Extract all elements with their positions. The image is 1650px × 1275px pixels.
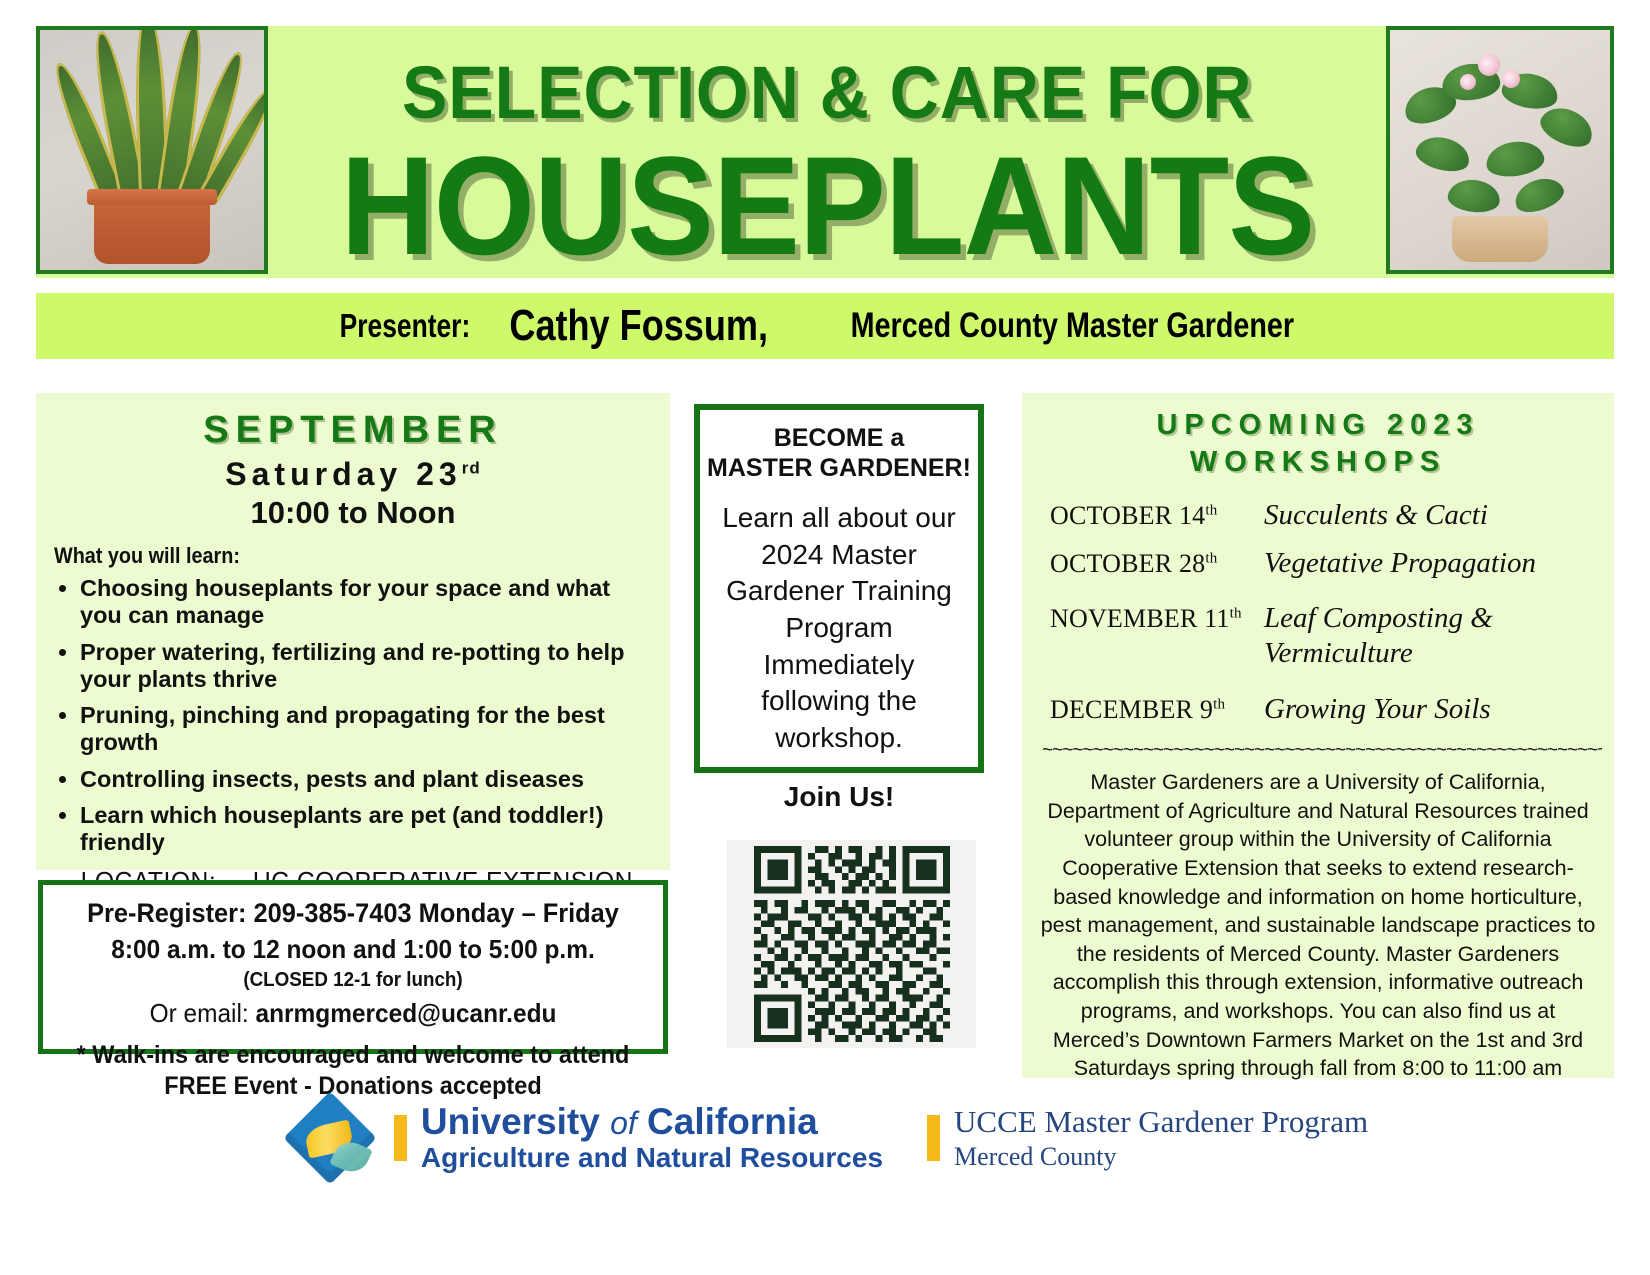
callout-cta: Join Us! bbox=[700, 781, 978, 813]
workshop-name: Leaf Composting & Vermiculture bbox=[1264, 601, 1606, 671]
flower-shape bbox=[1460, 74, 1476, 90]
flower-shape bbox=[1502, 70, 1520, 88]
workshops-list: OCTOBER 14th Succulents & Cacti OCTOBER … bbox=[1022, 498, 1614, 727]
presenter-bar: Presenter: Cathy Fossum, Merced County M… bbox=[36, 293, 1614, 359]
list-item: DECEMBER 9th Growing Your Soils bbox=[1050, 692, 1606, 727]
footer-logos: University of California Agriculture and… bbox=[0, 1088, 1650, 1188]
workshop-date-text: NOVEMBER 11 bbox=[1050, 604, 1230, 633]
title-line-1: SELECTION & CARE FOR bbox=[402, 56, 1253, 130]
ucce-program-line: UCCE Master Gardener Program bbox=[954, 1105, 1368, 1140]
register-closed-note: (CLOSED 12-1 for lunch) bbox=[62, 969, 645, 992]
email-label: Or email: bbox=[150, 998, 256, 1028]
presenter-name: Cathy Fossum, bbox=[509, 301, 768, 351]
email-address[interactable]: anrmgmerced@ucanr.edu bbox=[256, 998, 557, 1028]
list-item: Choosing houseplants for your space and … bbox=[80, 575, 652, 630]
master-gardener-callout: BECOME a MASTER GARDENER! Learn all abou… bbox=[694, 404, 984, 773]
workshop-date-ordinal: th bbox=[1230, 605, 1242, 621]
callout-heading-line-1: BECOME a bbox=[700, 424, 978, 453]
upcoming-title-line-1: UPCOMING 2023 bbox=[1022, 407, 1614, 444]
list-item: OCTOBER 28th Vegetative Propagation bbox=[1050, 546, 1606, 581]
workshop-date-text: OCTOBER 14 bbox=[1050, 501, 1205, 530]
uc-name-line: University of California bbox=[421, 1103, 883, 1142]
terracotta-pot bbox=[94, 198, 210, 264]
event-day: Saturday 23rd bbox=[36, 456, 670, 493]
workshop-name: Vegetative Propagation bbox=[1264, 546, 1536, 581]
uc-name-part-2: California bbox=[637, 1101, 818, 1142]
qr-code-icon bbox=[746, 846, 958, 1042]
workshop-name: Growing Your Soils bbox=[1264, 692, 1491, 727]
workshop-date-ordinal: th bbox=[1205, 503, 1217, 519]
hoya-plant-photo bbox=[1386, 26, 1614, 274]
workshop-name: Succulents & Cacti bbox=[1264, 498, 1488, 533]
learning-outcomes-list: Choosing houseplants for your space and … bbox=[36, 575, 670, 856]
snake-plant-photo bbox=[36, 26, 268, 274]
workshop-date-text: DECEMBER 9 bbox=[1050, 695, 1213, 724]
workshop-date: OCTOBER 28th bbox=[1050, 549, 1264, 579]
list-item: Controlling insects, pests and plant dis… bbox=[80, 766, 652, 793]
uc-division-line: Agriculture and Natural Resources bbox=[421, 1143, 883, 1172]
presenter-organization: Merced County Master Gardener bbox=[851, 306, 1294, 346]
workshop-date: OCTOBER 14th bbox=[1050, 501, 1264, 531]
callout-heading-line-2: MASTER GARDENER! bbox=[700, 454, 978, 483]
gold-accent-bar bbox=[927, 1115, 940, 1161]
presenter-label: Presenter: bbox=[340, 307, 471, 345]
list-item: Learn which houseplants are pet (and tod… bbox=[80, 802, 652, 857]
uc-name-part-1: University bbox=[421, 1101, 610, 1142]
workshop-date-ordinal: th bbox=[1205, 550, 1217, 566]
event-time: 10:00 to Noon bbox=[36, 495, 670, 531]
list-item: Proper watering, fertilizing and re-pott… bbox=[80, 639, 652, 694]
event-month: SEPTEMBER bbox=[36, 409, 670, 452]
ucce-wordmark: UCCE Master Gardener Program Merced Coun… bbox=[927, 1105, 1368, 1171]
list-item: OCTOBER 14th Succulents & Cacti bbox=[1050, 498, 1606, 533]
event-details-panel: SEPTEMBER Saturday 23rd 10:00 to Noon Wh… bbox=[36, 393, 670, 870]
master-gardener-description: Master Gardeners are a University of Cal… bbox=[1038, 768, 1598, 1083]
register-email-line: Or email: anrmgmerced@ucanr.edu bbox=[62, 998, 645, 1029]
page-title: SELECTION & CARE FOR HOUSEPLANTS bbox=[276, 26, 1378, 274]
register-hours-line: 8:00 a.m. to 12 noon and 1:00 to 5:00 p.… bbox=[62, 934, 645, 965]
workshop-date-text: OCTOBER 28 bbox=[1050, 549, 1205, 578]
uc-anr-logo-icon bbox=[282, 1090, 378, 1186]
callout-body: Learn all about our 2024 Master Gardener… bbox=[700, 500, 978, 757]
register-phone-line: Pre-Register: 209-385-7403 Monday – Frid… bbox=[62, 898, 645, 929]
squiggle-divider: ~~~~~~~~~~~~~~~~~~~~~~~~~~~~~~~~~~~~~~~~… bbox=[1042, 740, 1602, 762]
upcoming-title-line-2: WORKSHOPS bbox=[1022, 444, 1614, 481]
ucce-text-block: UCCE Master Gardener Program Merced Coun… bbox=[954, 1105, 1368, 1171]
upcoming-title: UPCOMING 2023 WORKSHOPS bbox=[1022, 407, 1614, 481]
workshop-date: NOVEMBER 11th bbox=[1050, 604, 1264, 634]
uc-name-of: of bbox=[610, 1105, 637, 1141]
event-day-ordinal: rd bbox=[462, 458, 481, 477]
ceramic-pot bbox=[1452, 216, 1548, 262]
list-item: NOVEMBER 11th Leaf Composting & Vermicul… bbox=[1050, 601, 1606, 671]
upcoming-workshops-panel: UPCOMING 2023 WORKSHOPS OCTOBER 14th Suc… bbox=[1022, 393, 1614, 1078]
gold-accent-bar bbox=[394, 1115, 407, 1161]
qr-code[interactable] bbox=[727, 840, 976, 1048]
flower-shape bbox=[1478, 54, 1500, 76]
event-day-text: Saturday 23 bbox=[225, 456, 461, 492]
title-line-2: HOUSEPLANTS bbox=[340, 136, 1314, 276]
list-item: Pruning, pinching and propagating for th… bbox=[80, 702, 652, 757]
walkins-note: * Walk-ins are encouraged and welcome to… bbox=[62, 1041, 645, 1070]
workshop-date: DECEMBER 9th bbox=[1050, 695, 1264, 725]
uc-anr-wordmark: University of California Agriculture and… bbox=[421, 1103, 883, 1172]
workshop-date-ordinal: th bbox=[1213, 697, 1225, 713]
ucce-county-line: Merced County bbox=[954, 1142, 1368, 1171]
header-banner: SELECTION & CARE FOR HOUSEPLANTS bbox=[36, 26, 1614, 278]
learn-heading: What you will learn: bbox=[54, 543, 608, 569]
registration-box: Pre-Register: 209-385-7403 Monday – Frid… bbox=[38, 880, 668, 1054]
